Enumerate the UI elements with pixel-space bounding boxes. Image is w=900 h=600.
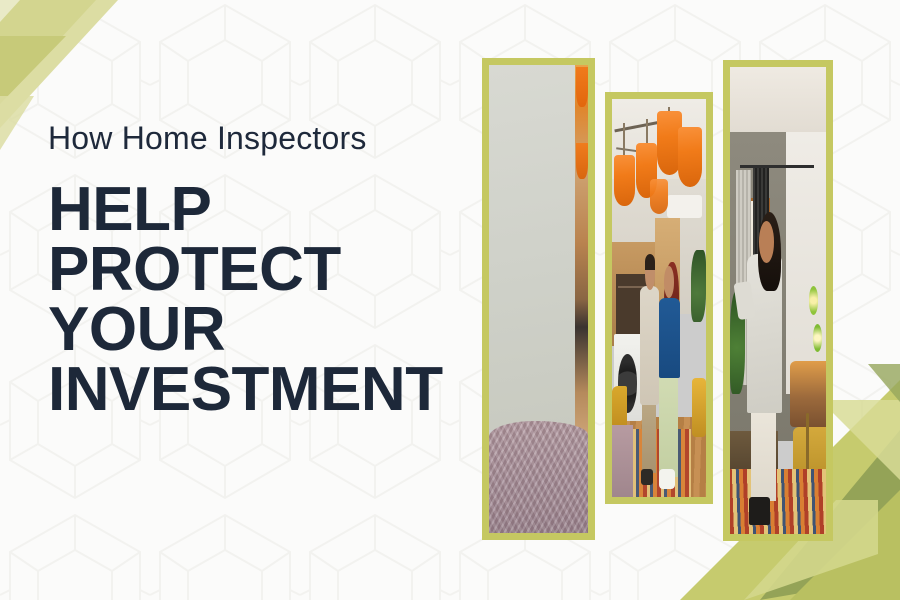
- photo-panel-couple-kitchen: [605, 92, 713, 504]
- photo-panel-wall-sofa: [482, 58, 595, 540]
- eyebrow-text: How Home Inspectors: [48, 118, 468, 158]
- green-globe-lamp-icon: [809, 286, 819, 314]
- headline-line-1: HELP: [48, 180, 468, 240]
- man-shoe: [641, 469, 653, 485]
- green-globe-lamp-icon: [813, 324, 823, 352]
- photo-couple-kitchen: [612, 99, 706, 497]
- pendant-lamp-icon: [678, 127, 702, 187]
- ceiling: [730, 67, 826, 142]
- woman-head: [664, 266, 674, 298]
- headline-line-3: YOUR: [48, 300, 468, 360]
- yellow-armchair: [692, 378, 706, 438]
- woman-head: [759, 221, 774, 263]
- man-jacket: [640, 286, 659, 405]
- woman-trousers: [751, 399, 776, 502]
- pendant-lamp-icon: [576, 143, 588, 179]
- sofa-corner: [612, 425, 633, 497]
- wall-light-section: [786, 132, 826, 394]
- poster-canvas: How Home Inspectors HELP PROTECT YOUR IN…: [0, 0, 900, 600]
- photo-woman-window: [730, 67, 826, 534]
- headline-line-2: PROTECT: [48, 240, 468, 300]
- houseplant-icon: [691, 250, 706, 322]
- curtain-rod: [740, 165, 815, 168]
- headline-block: How Home Inspectors HELP PROTECT YOUR IN…: [48, 118, 468, 421]
- pendant-lamp-icon: [614, 155, 635, 207]
- air-conditioner: [667, 195, 703, 219]
- patterned-rug: [730, 469, 826, 534]
- woman-heels: [749, 497, 770, 525]
- wall-surface: [489, 65, 588, 430]
- woman-blouse: [659, 298, 680, 378]
- page-title: HELP PROTECT YOUR INVESTMENT: [48, 180, 468, 421]
- pendant-lamp-icon: [576, 67, 588, 107]
- man-legs: [642, 398, 656, 474]
- headline-line-4: INVESTMENT: [48, 360, 468, 420]
- pendant-lamp-icon: [650, 179, 669, 215]
- man-hair: [645, 254, 655, 270]
- woman-sneakers: [659, 469, 675, 489]
- sofa-back-upholstery: [489, 421, 588, 533]
- woman-trousers: [659, 370, 678, 477]
- photo-panel-woman-window: [723, 60, 833, 541]
- photo-wall-sofa: [489, 65, 588, 533]
